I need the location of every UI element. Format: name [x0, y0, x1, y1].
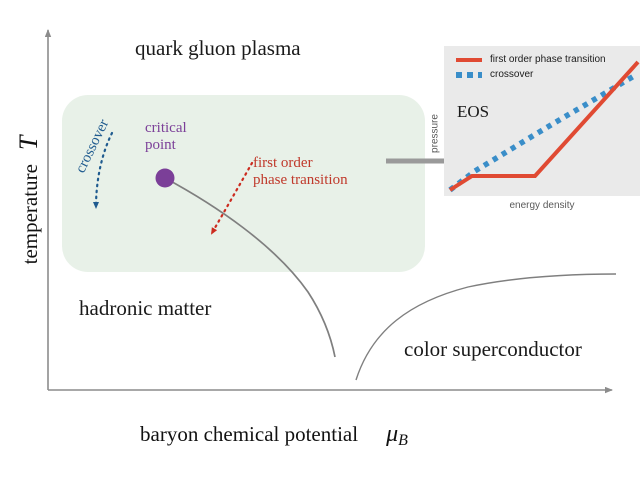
legend-item-first-order: first order phase transition: [456, 52, 606, 67]
phase-diagram-figure: quark gluon plasma hadronic matter color…: [0, 0, 640, 480]
legend-swatch-dotted-icon: [456, 72, 482, 78]
legend-swatch-solid-icon: [456, 58, 482, 62]
inset-title-eos: EOS: [457, 102, 489, 122]
legend-item-crossover: crossover: [456, 67, 606, 82]
inset-y-axis-label: pressure: [430, 99, 441, 169]
inset-x-axis-label: energy density: [444, 200, 640, 211]
legend-label-first-order: first order phase transition: [490, 54, 606, 65]
legend-label-crossover: crossover: [490, 69, 533, 80]
inset-legend: first order phase transition crossover: [456, 52, 606, 82]
